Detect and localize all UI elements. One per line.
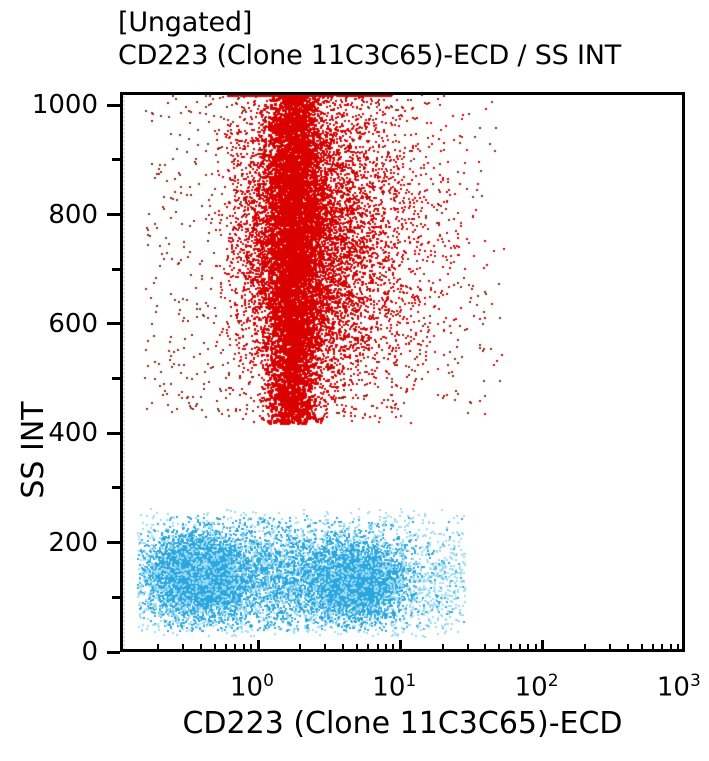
y-axis-label: SS INT (16, 350, 51, 550)
y-tick-label: 800 (0, 202, 98, 228)
y-tick-major (107, 322, 120, 325)
y-tick-minor (112, 268, 120, 271)
plot-area (120, 92, 685, 652)
x-tick-minor (652, 644, 654, 652)
x-tick-major (257, 640, 260, 652)
x-tick-label: 101 (372, 668, 416, 701)
x-tick-exponent: 1 (405, 671, 416, 691)
x-tick-minor (225, 644, 227, 652)
y-tick-major (107, 104, 120, 107)
scatter-canvas[interactable] (120, 92, 685, 652)
x-tick-minor (609, 644, 611, 652)
x-tick-minor (670, 644, 672, 652)
x-tick-minor (367, 644, 369, 652)
y-tick-label: 400 (0, 420, 98, 446)
x-tick-minor (200, 644, 202, 652)
x-tick-minor (250, 644, 252, 652)
y-tick-major (107, 432, 120, 435)
y-tick-minor (112, 377, 120, 380)
x-tick-label: 100 (230, 668, 274, 701)
x-tick-minor (377, 644, 379, 652)
y-tick-major (107, 541, 120, 544)
x-tick-minor (342, 644, 344, 652)
x-tick-minor (484, 644, 486, 652)
x-tick-minor (627, 644, 629, 652)
x-tick-minor (299, 644, 301, 652)
x-tick-minor (519, 644, 521, 652)
y-tick-label: 1000 (0, 92, 98, 118)
x-tick-minor (467, 644, 469, 652)
x-tick-minor (442, 644, 444, 652)
x-tick-minor (182, 644, 184, 652)
x-tick-minor (324, 644, 326, 652)
plot-title: CD223 (Clone 11C3C65)-ECD / SS INT (118, 39, 709, 72)
y-tick-major (107, 651, 120, 654)
y-tick-major (107, 213, 120, 216)
x-tick-minor (584, 644, 586, 652)
x-tick-exponent: 2 (548, 671, 559, 691)
x-tick-minor (214, 644, 216, 652)
plot-header: [Ungated] CD223 (Clone 11C3C65)-ECD / SS… (118, 6, 709, 72)
x-tick-label: 102 (515, 668, 559, 701)
x-axis-label: CD223 (Clone 11C3C65)-ECD (120, 706, 685, 741)
y-tick-label: 0 (0, 639, 98, 665)
x-tick-minor (661, 644, 663, 652)
x-tick-major (541, 640, 544, 652)
y-tick-label: 600 (0, 311, 98, 337)
x-tick-minor (157, 644, 159, 652)
x-tick-minor (356, 644, 358, 652)
x-tick-minor (677, 644, 679, 652)
x-tick-minor (641, 644, 643, 652)
gate-label: [Ungated] (118, 6, 709, 39)
x-tick-exponent: 0 (263, 671, 274, 691)
y-tick-label: 200 (0, 530, 98, 556)
x-tick-minor (535, 644, 537, 652)
y-tick-minor (112, 486, 120, 489)
x-tick-minor (527, 644, 529, 652)
x-tick-minor (392, 644, 394, 652)
scatter-plot-page: [Ungated] CD223 (Clone 11C3C65)-ECD / SS… (0, 0, 709, 761)
x-tick-label: 103 (657, 668, 701, 701)
x-tick-minor (510, 644, 512, 652)
x-tick-base: 10 (230, 673, 263, 703)
x-tick-minor (234, 644, 236, 652)
y-tick-minor (112, 158, 120, 161)
x-tick-base: 10 (657, 673, 690, 703)
x-tick-minor (385, 644, 387, 652)
x-tick-major (399, 640, 402, 652)
x-tick-base: 10 (372, 673, 405, 703)
x-tick-minor (243, 644, 245, 652)
x-tick-base: 10 (515, 673, 548, 703)
y-tick-minor (112, 596, 120, 599)
x-tick-minor (498, 644, 500, 652)
x-tick-exponent: 3 (690, 671, 701, 691)
